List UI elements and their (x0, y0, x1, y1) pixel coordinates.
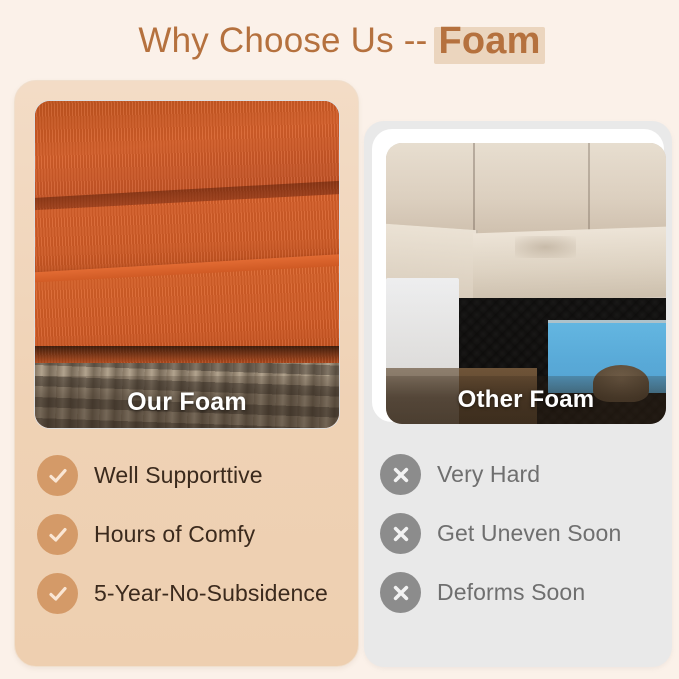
x-circle-icon (380, 572, 421, 613)
list-item-label: Deforms Soon (437, 579, 585, 606)
page-title-emphasis: Foam (438, 20, 540, 62)
our-foam-caption: Our Foam (35, 376, 339, 428)
check-circle-icon (37, 573, 78, 614)
list-item: Very Hard (380, 445, 662, 504)
other-foam-photo-frame: Other Foam (372, 129, 664, 422)
list-item: Deforms Soon (380, 563, 662, 622)
list-item-label: Hours of Comfy (94, 521, 255, 548)
page-title-highlight-wrap: Foam (438, 20, 540, 63)
list-item-label: Very Hard (437, 461, 540, 488)
list-item: 5-Year-No-Subsidence (37, 564, 346, 623)
list-item-label: Well Supporttive (94, 462, 263, 489)
other-foam-panel: Other Foam Very Hard Get Uneven Soon (364, 121, 672, 667)
list-item-label: 5-Year-No-Subsidence (94, 580, 328, 607)
our-foam-feature-list: Well Supporttive Hours of Comfy 5-Year-N… (37, 446, 346, 623)
check-circle-icon (37, 514, 78, 555)
page-title-plain: Why Choose Us -- (138, 21, 427, 61)
x-circle-icon (380, 454, 421, 495)
x-circle-icon (380, 513, 421, 554)
check-circle-icon (37, 455, 78, 496)
other-foam-photo: Other Foam (386, 143, 666, 424)
list-item: Well Supporttive (37, 446, 346, 505)
cushion-base-shadow (35, 346, 339, 362)
other-foam-caption: Other Foam (386, 376, 666, 424)
our-foam-photo: Our Foam (34, 100, 340, 429)
list-item: Get Uneven Soon (380, 504, 662, 563)
list-item-label: Get Uneven Soon (437, 520, 621, 547)
list-item: Hours of Comfy (37, 505, 346, 564)
page-title: Why Choose Us -- Foam (0, 0, 679, 82)
our-foam-panel: Our Foam Well Supporttive Hours of Comfy (14, 80, 359, 667)
other-foam-feature-list: Very Hard Get Uneven Soon Deforms Soon (380, 445, 662, 622)
